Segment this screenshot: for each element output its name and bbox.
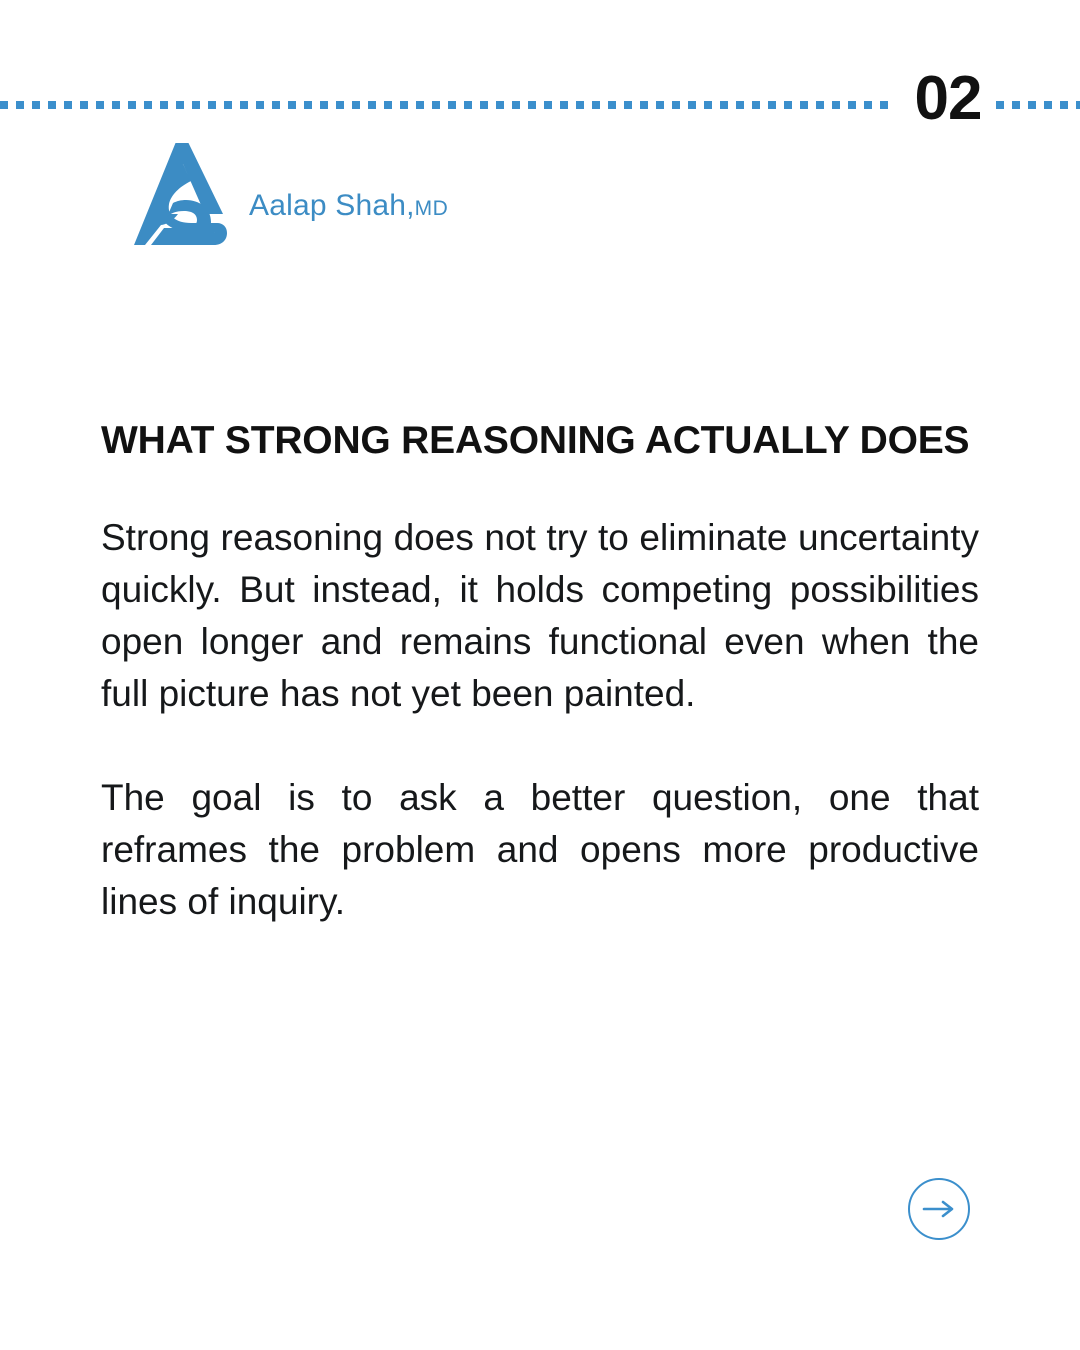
dotted-rule-left bbox=[0, 101, 892, 109]
page-title: WHAT STRONG REASONING ACTUALLY DOES bbox=[101, 418, 979, 464]
page-number: 02 bbox=[900, 64, 996, 134]
body-paragraph-2: The goal is to ask a better question, on… bbox=[101, 772, 979, 928]
body-paragraph-1: Strong reasoning does not try to elimina… bbox=[101, 512, 979, 720]
brand-name-text: Aalap Shah, bbox=[249, 189, 415, 222]
brand-name: Aalap Shah,MD bbox=[249, 165, 448, 223]
brand-lockup: Aalap Shah,MD bbox=[131, 140, 448, 248]
dotted-rule-right bbox=[996, 101, 1080, 109]
slide-canvas: 02 Aalap Shah,MD WHAT STRONG REASONING A… bbox=[0, 0, 1080, 1350]
aalap-shah-monogram-icon bbox=[131, 140, 235, 248]
content-block: WHAT STRONG REASONING ACTUALLY DOES Stro… bbox=[101, 418, 979, 928]
brand-name-suffix: MD bbox=[415, 197, 449, 220]
next-slide-button[interactable] bbox=[908, 1178, 970, 1240]
arrow-right-icon bbox=[922, 1199, 956, 1219]
